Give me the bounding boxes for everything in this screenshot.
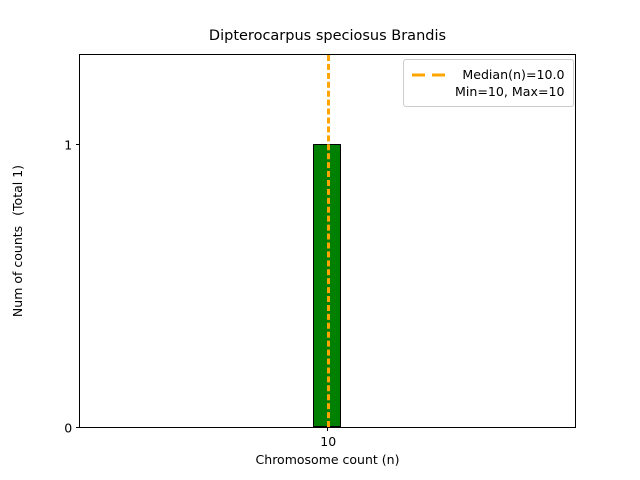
chart-title: Dipterocarpus speciosus Brandis xyxy=(79,28,576,45)
xtick-10: 10 xyxy=(327,427,328,431)
plot-inner xyxy=(80,55,575,427)
legend-label-median: Median(n)=10.0 xyxy=(455,66,565,83)
legend-line-sample-icon xyxy=(412,68,446,82)
ytick-label-0: 0 xyxy=(64,422,72,435)
ytick-0: 0 xyxy=(76,427,80,428)
chart-figure: Dipterocarpus speciosus Brandis 0 1 10 xyxy=(0,0,640,480)
plot-area: 0 1 10 Median(n)=10.0 Min=10, Max=10 xyxy=(79,54,576,428)
y-axis-label: Num of counts (Total 1) xyxy=(0,54,36,428)
xtick-label-10: 10 xyxy=(320,435,336,449)
ytick-1: 1 xyxy=(76,144,80,145)
legend-label-minmax: Min=10, Max=10 xyxy=(455,83,565,100)
legend: Median(n)=10.0 Min=10, Max=10 xyxy=(403,59,574,107)
legend-text: Median(n)=10.0 Min=10, Max=10 xyxy=(455,66,565,100)
y-axis-label-total: (Total 1) xyxy=(11,165,25,216)
ytick-label-1: 1 xyxy=(64,138,72,151)
x-axis-label: Chromosome count (n) xyxy=(79,453,576,467)
y-axis-label-main: Num of counts xyxy=(11,226,25,317)
median-line xyxy=(327,55,330,427)
